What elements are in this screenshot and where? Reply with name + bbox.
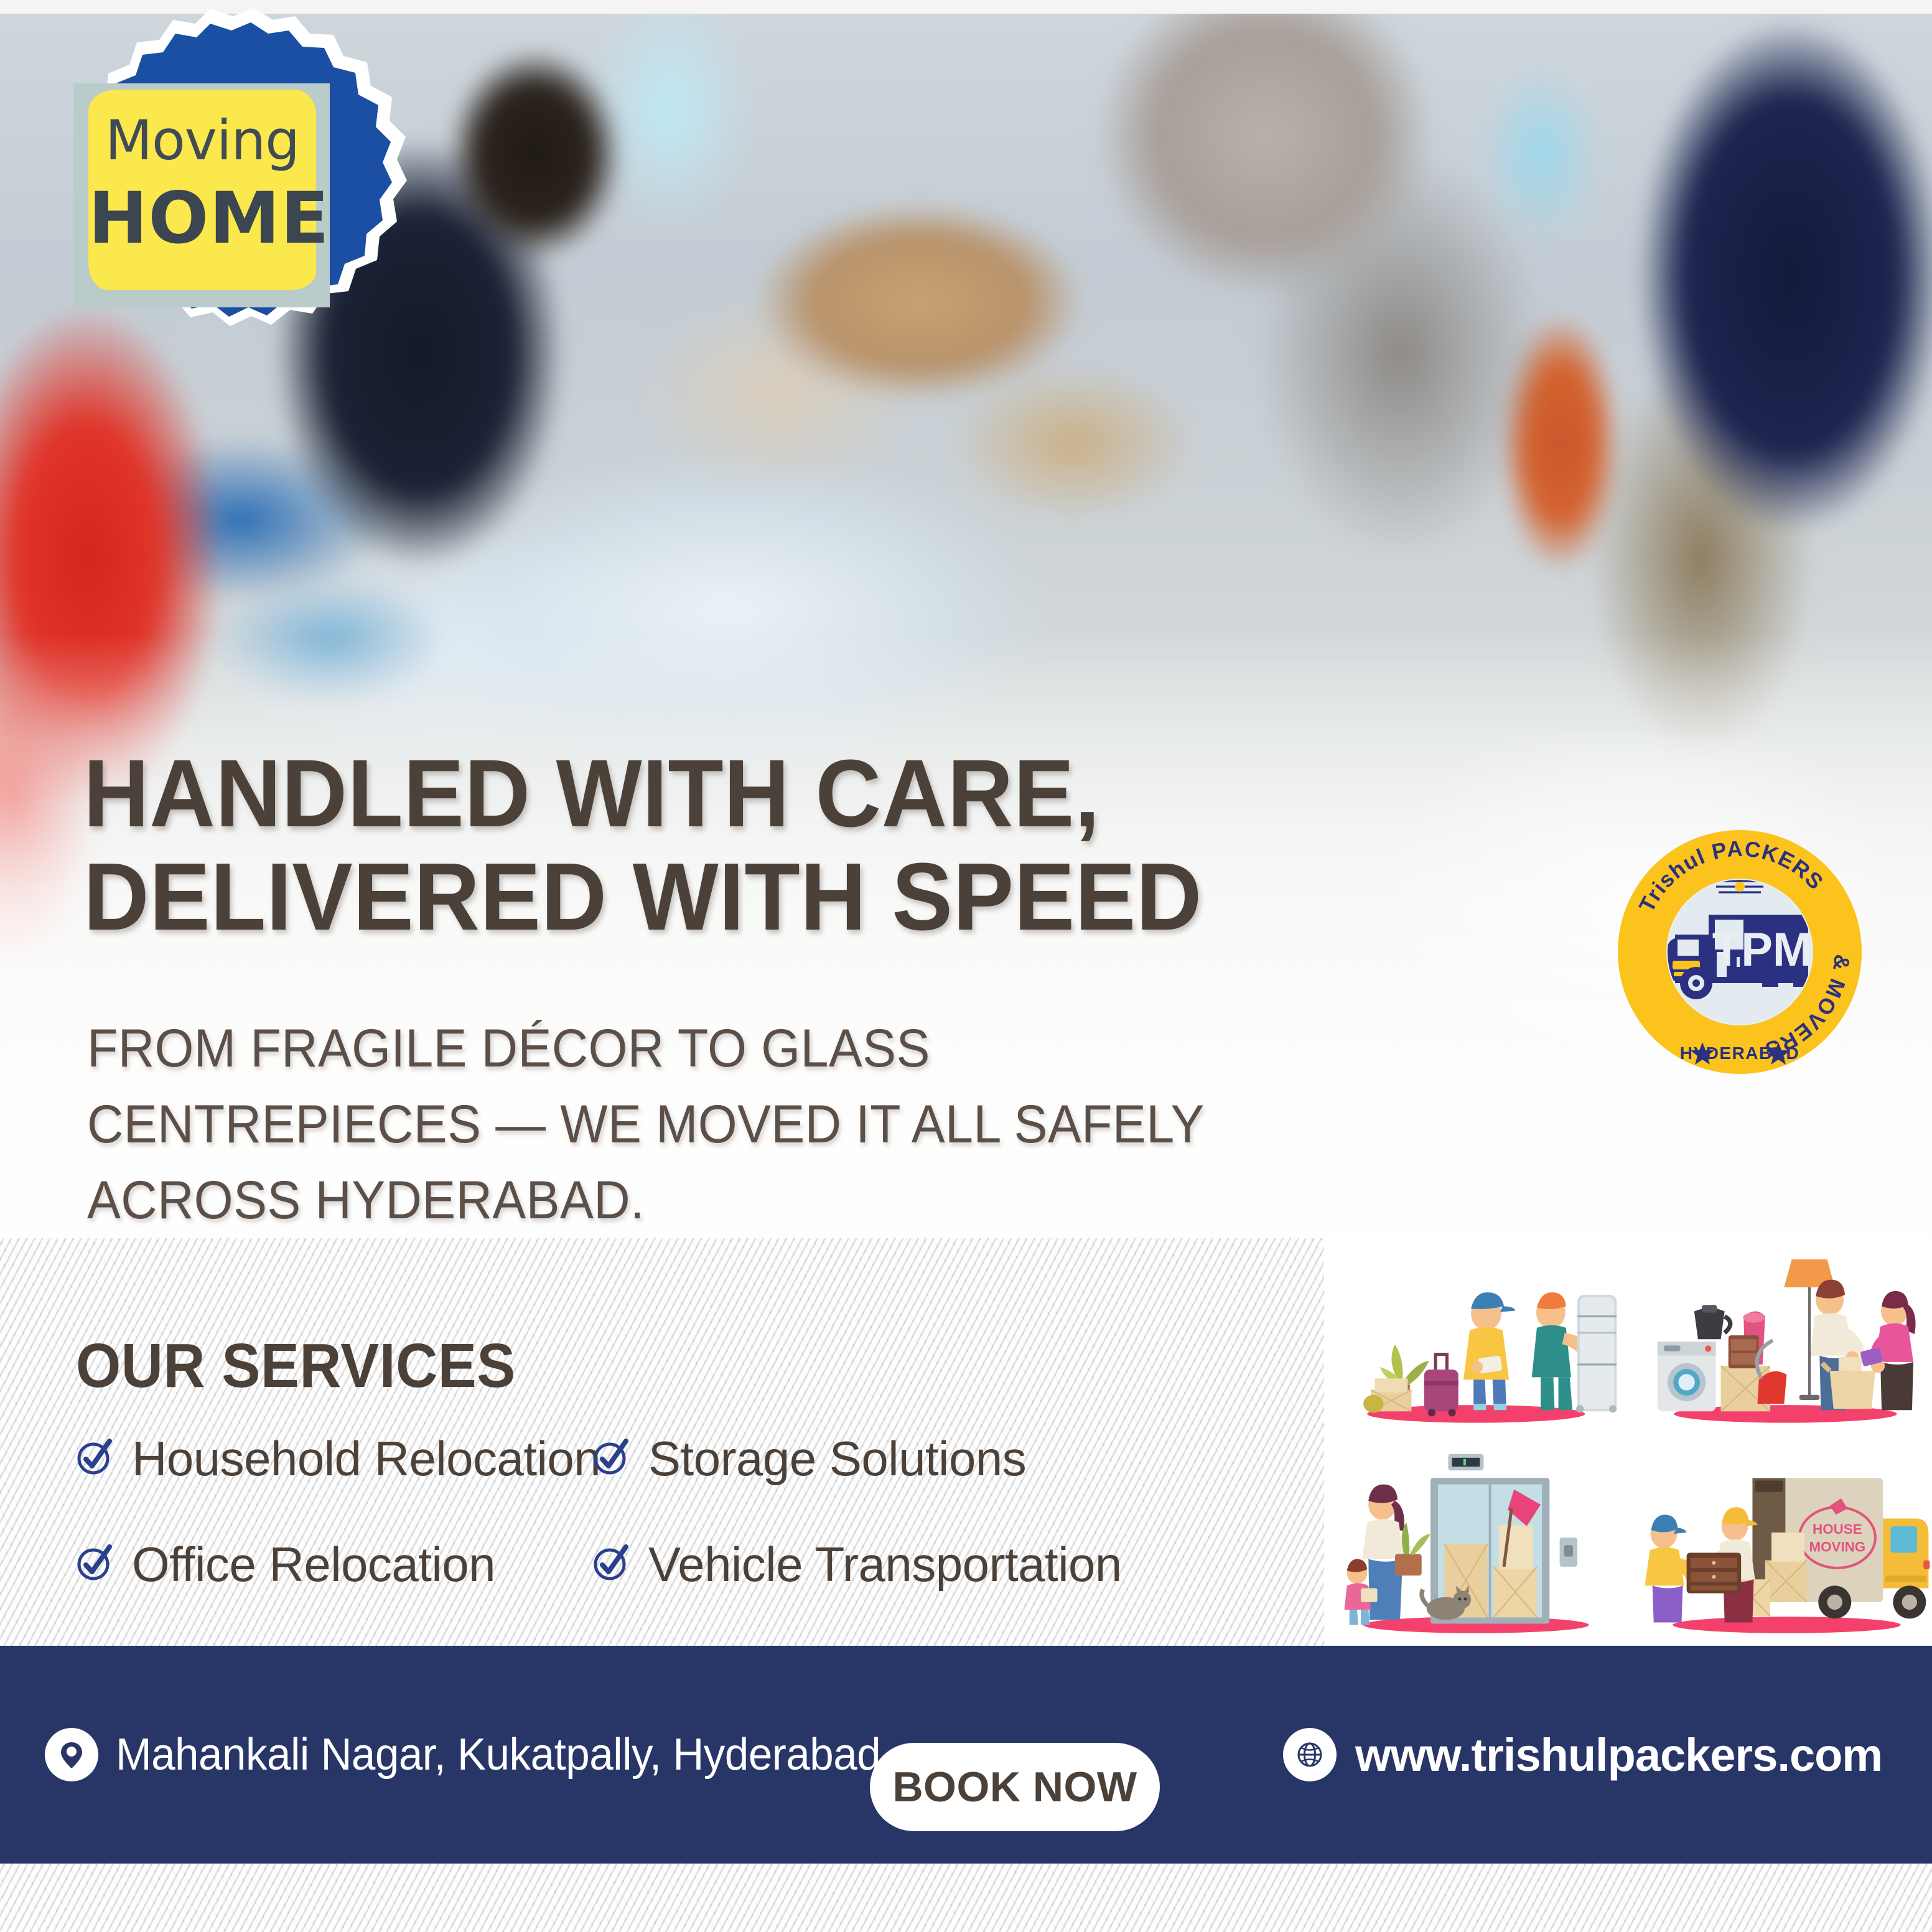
logo-city: HYDERABAD bbox=[1680, 1043, 1799, 1063]
check-circle-icon bbox=[76, 1544, 113, 1582]
service-label: Household Relocation bbox=[132, 1430, 600, 1487]
tpm-company-logo: TPM Trishul PACKERS & MOVERS HYDERABAD bbox=[1615, 828, 1864, 1076]
hero-subheadline: FROM FRAGILE DÉCOR TO GLASS CENTREPIECES… bbox=[87, 1010, 1257, 1238]
footer-address-text: Mahankali Nagar, Kukatpally, Hyderabad. bbox=[116, 1729, 892, 1780]
truck-label-line1: HOUSE bbox=[1813, 1521, 1862, 1536]
footer-address-group: Mahankali Nagar, Kukatpally, Hyderabad. bbox=[45, 1728, 925, 1781]
check-circle-icon bbox=[592, 1544, 630, 1582]
service-label: Office Relocation bbox=[132, 1536, 495, 1593]
badge-line-moving: Moving bbox=[88, 113, 316, 168]
illustration-grid: HOUSE MOVING bbox=[1324, 1237, 1932, 1646]
truck-label-line2: MOVING bbox=[1809, 1539, 1865, 1554]
book-now-button[interactable]: BOOK NOW bbox=[870, 1743, 1160, 1831]
check-circle-icon bbox=[76, 1439, 113, 1476]
illustration-movers-carrying-fridge bbox=[1324, 1237, 1628, 1442]
service-item-office-relocation[interactable]: Office Relocation bbox=[76, 1531, 592, 1598]
moving-home-badge: Moving HOME bbox=[9, 5, 412, 403]
illustration-mother-child-elevator bbox=[1324, 1442, 1628, 1646]
footer-website-group[interactable]: www.trishulpackers.com bbox=[1283, 1728, 1882, 1781]
service-item-household-relocation[interactable]: Household Relocation bbox=[76, 1425, 592, 1492]
services-section: OUR SERVICES Household Relocation bbox=[0, 1238, 1325, 1646]
badge-line-home: HOME bbox=[88, 183, 316, 254]
service-item-storage-solutions[interactable]: Storage Solutions bbox=[592, 1425, 1152, 1492]
service-label: Storage Solutions bbox=[648, 1430, 1026, 1487]
svg-text:TPM: TPM bbox=[1712, 923, 1812, 976]
footer-website-text[interactable]: www.trishulpackers.com bbox=[1355, 1729, 1882, 1781]
globe-icon bbox=[1283, 1728, 1337, 1781]
illustration-family-packing-boxes bbox=[1628, 1237, 1932, 1442]
service-item-vehicle-transportation[interactable]: Vehicle Transportation bbox=[592, 1531, 1152, 1598]
illustration-panel: HOUSE MOVING bbox=[1324, 1237, 1932, 1646]
hero-headline: HANDLED WITH CARE, DELIVERED WITH SPEED bbox=[83, 742, 1478, 949]
badge-sticky-note: Moving HOME bbox=[88, 90, 316, 290]
check-circle-icon bbox=[592, 1439, 630, 1476]
service-label: Vehicle Transportation bbox=[648, 1536, 1122, 1593]
services-list: Household Relocation Storage Solutions bbox=[76, 1425, 1233, 1598]
badge-inner-photo: Moving HOME bbox=[73, 83, 330, 307]
illustration-movers-loading-truck: HOUSE MOVING bbox=[1628, 1442, 1932, 1646]
tpm-logo-icon: TPM Trishul PACKERS & MOVERS HYDERABAD bbox=[1615, 828, 1864, 1076]
services-heading: OUR SERVICES bbox=[76, 1330, 516, 1402]
location-pin-icon bbox=[45, 1728, 98, 1781]
services-row-2: Office Relocation Vehicle Transportation bbox=[76, 1531, 1233, 1598]
poster-canvas: Moving HOME HANDLED WITH CARE, DELIVERED… bbox=[0, 0, 1932, 1932]
services-row-1: Household Relocation Storage Solutions bbox=[76, 1425, 1233, 1492]
